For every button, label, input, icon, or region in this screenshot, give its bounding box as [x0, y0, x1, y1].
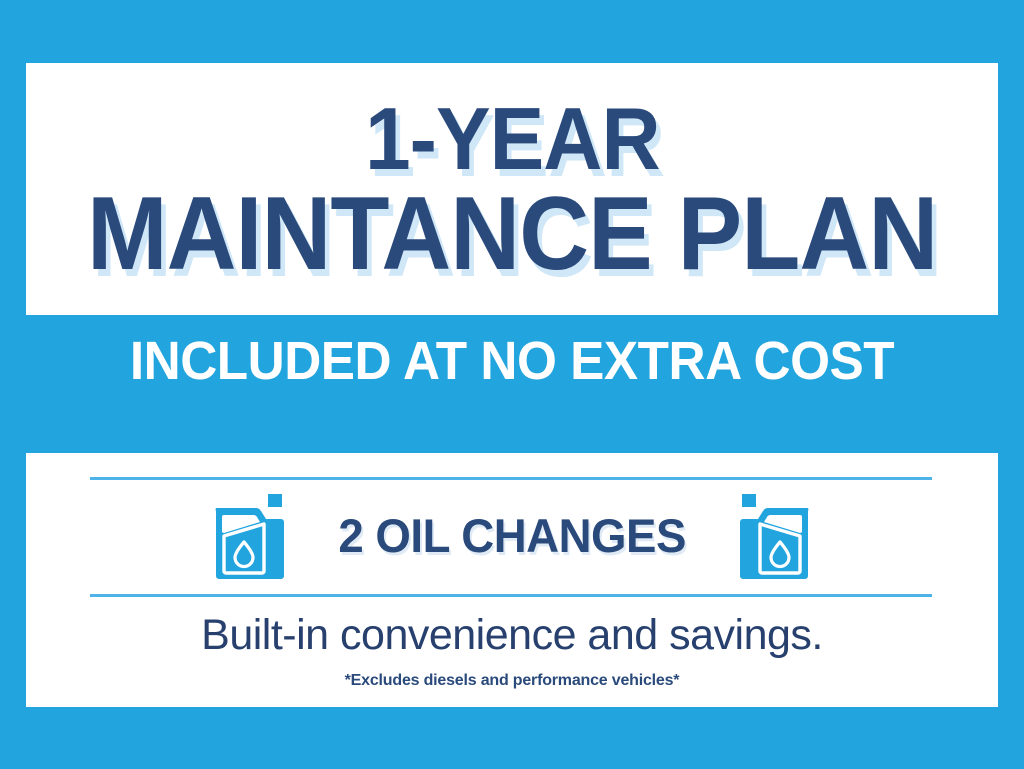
feature-label: 2 OIL CHANGES	[338, 508, 686, 563]
divider-bottom	[90, 594, 932, 597]
tagline-text: Built-in convenience and savings.	[26, 611, 998, 660]
headline-line-1: 1-YEAR	[365, 97, 660, 181]
subtitle-text: INCLUDED AT NO EXTRA COST	[26, 330, 999, 392]
fineprint-text: *Excludes diesels and performance vehicl…	[26, 672, 998, 690]
details-card: 2 OIL CHANGES Built-in convenience and s…	[26, 453, 998, 707]
oil-jug-icon-right	[737, 492, 811, 580]
oil-jug-icon-left	[213, 492, 287, 580]
promo-poster: 1-YEAR MAINTANCE PLAN INCLUDED AT NO EXT…	[0, 0, 1024, 769]
headline-card: 1-YEAR MAINTANCE PLAN	[26, 63, 998, 315]
headline-line-2: MAINTANCE PLAN	[87, 185, 937, 285]
feature-row: 2 OIL CHANGES	[26, 477, 998, 594]
